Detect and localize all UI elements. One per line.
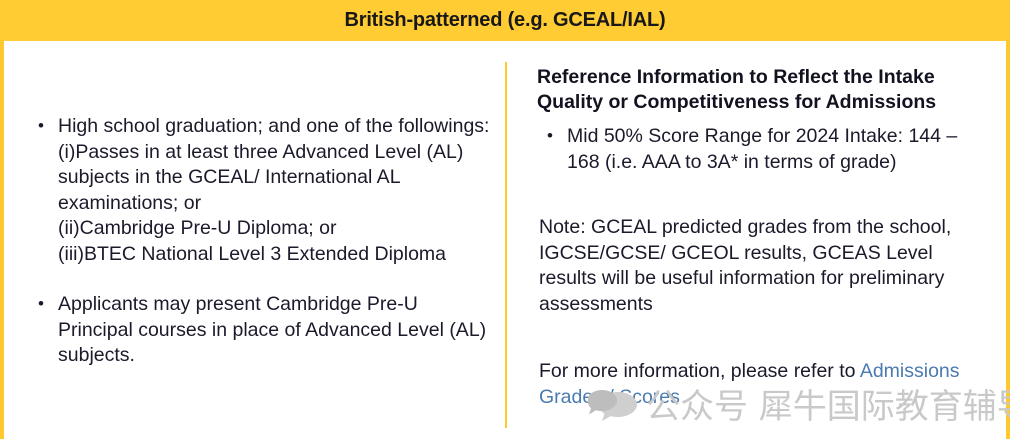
list-item-text: Mid 50% Score Range for 2024 Intake: 144… [567, 125, 957, 173]
slide-root: British-patterned (e.g. GCEAL/IAL) High … [0, 0, 1010, 445]
slide-content: High school graduation; and one of the f… [0, 41, 1010, 445]
more-information-prefix: For more information, please refer to [539, 360, 860, 382]
score-range-list: Mid 50% Score Range for 2024 Intake: 144… [537, 124, 992, 175]
entry-requirements-list: High school graduation; and one of the f… [28, 114, 498, 369]
list-item-text: High school graduation; and one of the f… [58, 115, 489, 265]
left-column: High school graduation; and one of the f… [14, 41, 494, 445]
slide-header-band: British-patterned (e.g. GCEAL/IAL) [0, 0, 1010, 41]
list-item: Applicants may present Cambridge Pre-U P… [28, 292, 498, 369]
more-information-paragraph: For more information, please refer to Ad… [539, 359, 989, 410]
list-item: High school graduation; and one of the f… [28, 114, 498, 267]
right-column: Reference Information to Reflect the Int… [523, 41, 1001, 445]
list-item-text: Applicants may present Cambridge Pre-U P… [58, 293, 486, 366]
note-paragraph: Note: GCEAL predicted grades from the sc… [539, 215, 979, 317]
reference-info-heading: Reference Information to Reflect the Int… [537, 65, 987, 115]
list-item: Mid 50% Score Range for 2024 Intake: 144… [537, 124, 992, 175]
page-title: British-patterned (e.g. GCEAL/IAL) [345, 9, 666, 32]
